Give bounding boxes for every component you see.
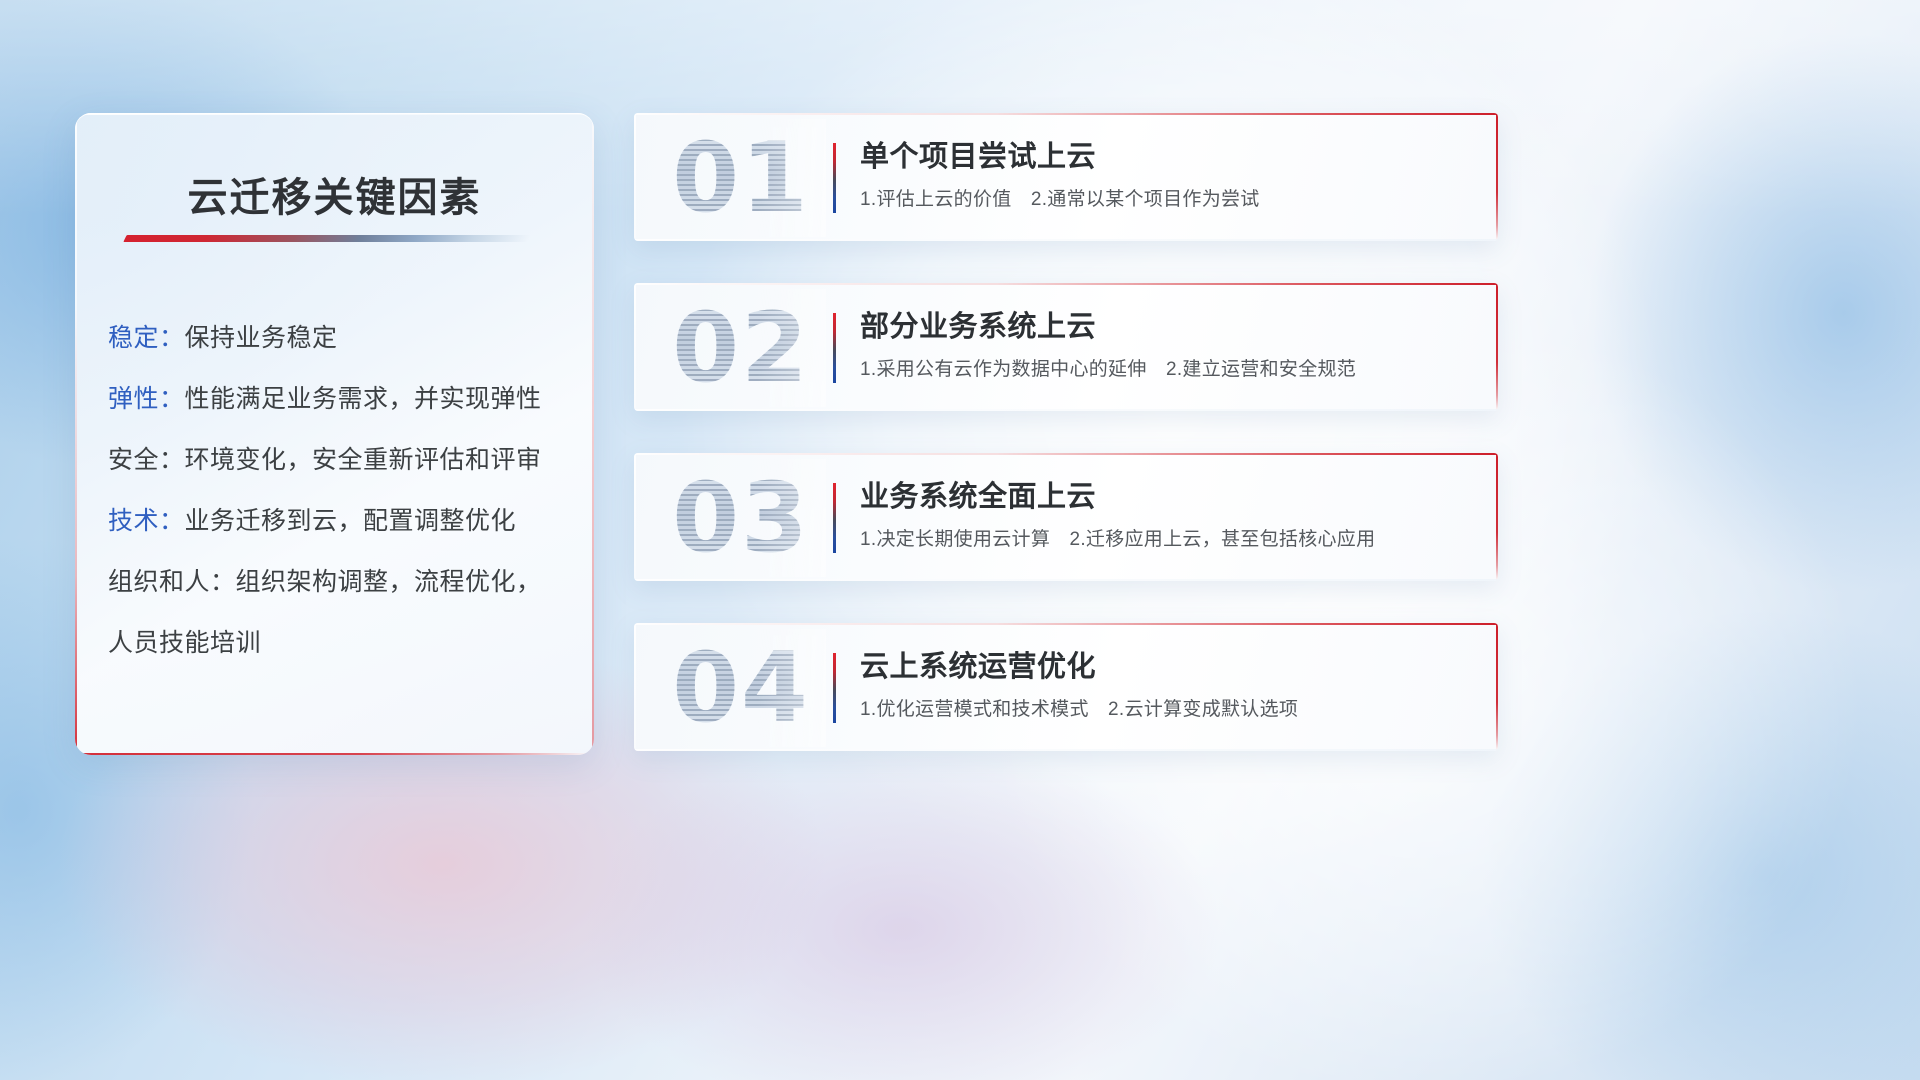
card-edge-left: [634, 283, 636, 411]
stage-card[interactable]: 01 单个项目尝试上云 1.评估上云的价值 2.通常以某个项目作为尝试: [634, 113, 1498, 241]
card-description: 1.优化运营模式和技术模式 2.云计算变成默认选项: [860, 697, 1474, 723]
stage-card[interactable]: 04 云上系统运营优化 1.优化运营模式和技术模式 2.云计算变成默认选项: [634, 623, 1498, 751]
card-edge-top: [634, 283, 1498, 285]
card-title: 业务系统全面上云: [860, 477, 1474, 517]
list-item: 技术：业务迁移到云，配置调整优化: [108, 491, 574, 552]
key-factors-panel: 云迁移关键因素 稳定：保持业务稳定 弹性：性能满足业务需求，并实现弹性 安全：环…: [75, 113, 594, 755]
list-item-key: 组织和人：: [108, 568, 236, 596]
card-edge-top: [634, 623, 1498, 625]
card-title: 单个项目尝试上云: [860, 137, 1474, 177]
card-description: 1.决定长期使用云计算 2.迁移应用上云，甚至包括核心应用: [860, 527, 1474, 553]
card-edge-right: [1496, 113, 1498, 241]
card-divider: [833, 313, 836, 383]
card-body: 云上系统运营优化 1.优化运营模式和技术模式 2.云计算变成默认选项: [860, 647, 1474, 723]
stage-card[interactable]: 03 业务系统全面上云 1.决定长期使用云计算 2.迁移应用上云，甚至包括核心应…: [634, 453, 1498, 581]
card-edge-bottom: [634, 579, 1498, 581]
card-body: 业务系统全面上云 1.决定长期使用云计算 2.迁移应用上云，甚至包括核心应用: [860, 477, 1474, 553]
card-edge-right: [1496, 453, 1498, 581]
card-edge-bottom: [634, 409, 1498, 411]
card-edge-bottom: [634, 239, 1498, 241]
card-step-number: 04: [656, 629, 826, 747]
list-item-text: 业务迁移到云，配置调整优化: [185, 507, 517, 535]
list-item: 人员技能培训: [108, 613, 574, 674]
card-edge-right: [1496, 623, 1498, 751]
card-description: 1.采用公有云作为数据中心的延伸 2.建立运营和安全规范: [860, 357, 1474, 383]
list-item-text: 人员技能培训: [108, 629, 261, 657]
list-item-text: 环境变化，安全重新评估和评审: [185, 446, 542, 474]
card-body: 单个项目尝试上云 1.评估上云的价值 2.通常以某个项目作为尝试: [860, 137, 1474, 213]
card-edge-right: [1496, 283, 1498, 411]
list-item-key: 弹性：: [108, 385, 185, 413]
card-step-number: 01: [656, 119, 826, 237]
list-item: 组织和人：组织架构调整，流程优化，: [108, 552, 574, 613]
card-edge-left: [634, 623, 636, 751]
panel-edge-top: [75, 113, 594, 115]
card-edge-top: [634, 113, 1498, 115]
card-title: 云上系统运营优化: [860, 647, 1474, 687]
list-item-text: 保持业务稳定: [185, 324, 338, 352]
list-item: 稳定：保持业务稳定: [108, 308, 574, 369]
title-underline-rule: [123, 235, 530, 242]
card-edge-top: [634, 453, 1498, 455]
list-item: 弹性：性能满足业务需求，并实现弹性: [108, 369, 574, 430]
card-edge-left: [634, 453, 636, 581]
card-divider: [833, 143, 836, 213]
card-body: 部分业务系统上云 1.采用公有云作为数据中心的延伸 2.建立运营和安全规范: [860, 307, 1474, 383]
key-factors-list: 稳定：保持业务稳定 弹性：性能满足业务需求，并实现弹性 安全：环境变化，安全重新…: [108, 308, 574, 674]
card-divider: [833, 483, 836, 553]
card-step-number: 02: [656, 289, 826, 407]
list-item-key: 技术：: [108, 507, 185, 535]
card-title: 部分业务系统上云: [860, 307, 1474, 347]
card-step-number: 03: [656, 459, 826, 577]
stage-card[interactable]: 02 部分业务系统上云 1.采用公有云作为数据中心的延伸 2.建立运营和安全规范: [634, 283, 1498, 411]
card-description: 1.评估上云的价值 2.通常以某个项目作为尝试: [860, 187, 1474, 213]
list-item-key: 稳定：: [108, 324, 185, 352]
list-item-text: 性能满足业务需求，并实现弹性: [185, 385, 542, 413]
panel-edge-bottom: [75, 753, 594, 755]
card-divider: [833, 653, 836, 723]
list-item: 安全：环境变化，安全重新评估和评审: [108, 430, 574, 491]
card-edge-left: [634, 113, 636, 241]
list-item-text: 组织架构调整，流程优化，: [236, 568, 542, 596]
migration-stages-list: 01 单个项目尝试上云 1.评估上云的价值 2.通常以某个项目作为尝试 02 部…: [634, 113, 1498, 793]
panel-title: 云迁移关键因素: [75, 165, 594, 223]
list-item-key: 安全：: [108, 446, 185, 474]
card-edge-bottom: [634, 749, 1498, 751]
